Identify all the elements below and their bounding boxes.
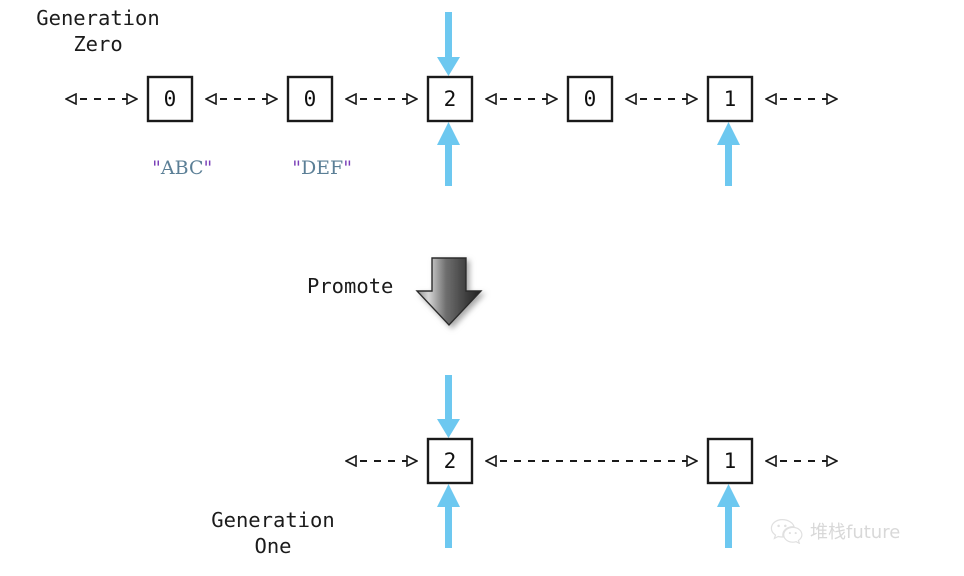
- cyan-arrow-up-node2-bottom: [437, 484, 460, 548]
- diagram-vector-layer: [0, 0, 964, 576]
- string-open-quote: ": [292, 157, 301, 179]
- string-open-quote: ": [152, 157, 161, 179]
- gen-one-node-value-1: 1: [708, 439, 752, 483]
- gen-zero-string-label-abc: "ABC": [128, 135, 212, 201]
- gen-zero-string-label-def: "DEF": [268, 135, 352, 201]
- cyan-arrow-down-node2-bottom: [437, 375, 460, 438]
- gen-one-node-value-0: 2: [428, 439, 472, 483]
- cyan-arrow-up-node1-bottom: [717, 484, 740, 548]
- watermark-text: 堆栈future: [810, 518, 900, 544]
- string-close-quote: ": [204, 157, 213, 179]
- promote-label: Promote: [307, 274, 393, 300]
- promote-arrow-icon: [417, 258, 481, 325]
- gen-zero-node-value-0: 0: [148, 77, 192, 121]
- string-close-quote: ": [343, 157, 352, 179]
- gen-zero-node-value-2: 2: [428, 77, 472, 121]
- watermark: 堆栈future: [770, 518, 900, 544]
- gen-zero-node-value-1: 0: [288, 77, 332, 121]
- cyan-arrow-down-node2-top: [437, 12, 460, 76]
- string-body-abc: ABC: [161, 157, 204, 179]
- wechat-icon: [770, 518, 804, 544]
- diagram-canvas: GenerationZero 0 0 2 0 1 "ABC" "DEF" Pro…: [0, 0, 964, 576]
- gen-zero-node-value-3: 0: [568, 77, 612, 121]
- string-body-def: DEF: [301, 157, 343, 179]
- cyan-arrow-up-node2-top: [437, 122, 460, 186]
- cyan-arrow-up-node1-top: [717, 122, 740, 186]
- generation-one-title: GenerationOne: [193, 508, 353, 559]
- generation-zero-title: GenerationZero: [18, 6, 178, 57]
- gen-zero-node-value-4: 1: [708, 77, 752, 121]
